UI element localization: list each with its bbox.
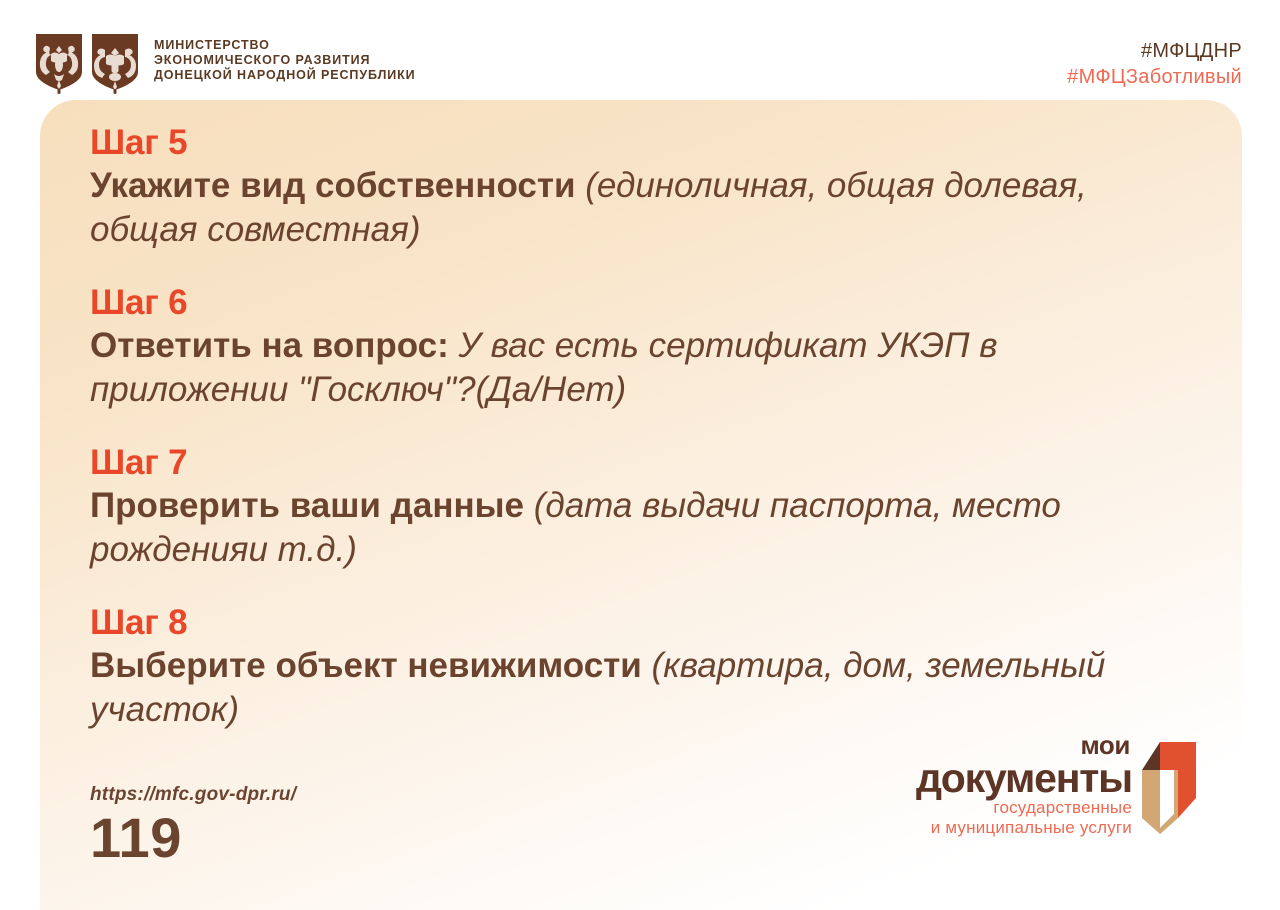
site-url[interactable]: https://mfc.gov-dpr.ru/ — [90, 784, 296, 806]
hashtag-secondary: #МФЦЗаботливый — [1067, 64, 1242, 90]
step-label: Шаг 6 — [90, 282, 1200, 324]
step-bold-text: Проверить ваши данные — [90, 486, 524, 525]
step-label: Шаг 7 — [90, 442, 1200, 484]
step-description: Укажите вид собственности (единоличная, … — [90, 164, 1195, 252]
step-item: Шаг 8 Выберите объект невижимости (кварт… — [90, 602, 1200, 732]
mfc-logo-dokumenty: документы — [912, 758, 1132, 798]
mfc-logo-subline-2: и муниципальные услуги — [912, 818, 1132, 838]
step-description: Проверить ваши данные (дата выдачи паспо… — [90, 484, 1195, 572]
hashtag-group: #МФЦДНР #МФЦЗаботливый — [1067, 38, 1242, 90]
step-bold-text: Выберите объект невижимости — [90, 646, 642, 685]
russia-coat-of-arms-icon — [34, 32, 84, 94]
content-card: Шаг 5 Укажите вид собственности (единоли… — [40, 100, 1242, 910]
mfc-logo: мои документы государственные и муниципа… — [920, 754, 1220, 882]
mfc-logo-subline-1: государственные — [912, 798, 1132, 818]
steps-list: Шаг 5 Укажите вид собственности (единоли… — [90, 122, 1200, 762]
page-number: 119 — [90, 806, 182, 870]
step-description: Ответить на вопрос: У вас есть сертифика… — [90, 324, 1195, 412]
step-bold-text: Ответить на вопрос: — [90, 326, 449, 365]
ministry-title: МИНИСТЕРСТВО ЭКОНОМИЧЕСКОГО РАЗВИТИЯ ДОН… — [154, 38, 416, 83]
step-description: Выберите объект невижимости (квартира, д… — [90, 644, 1195, 732]
step-item: Шаг 6 Ответить на вопрос: У вас есть сер… — [90, 282, 1200, 412]
step-label: Шаг 5 — [90, 122, 1200, 164]
mfc-flag-icon — [1122, 740, 1198, 836]
mfc-wordmark: мои документы государственные и муниципа… — [912, 732, 1132, 838]
dpr-coat-of-arms-icon — [90, 32, 140, 94]
step-bold-text: Укажите вид собственности — [90, 166, 576, 205]
page-header: МИНИСТЕРСТВО ЭКОНОМИЧЕСКОГО РАЗВИТИЯ ДОН… — [0, 0, 1280, 100]
step-item: Шаг 5 Укажите вид собственности (единоли… — [90, 122, 1200, 252]
step-label: Шаг 8 — [90, 602, 1200, 644]
ministry-branding: МИНИСТЕРСТВО ЭКОНОМИЧЕСКОГО РАЗВИТИЯ ДОН… — [34, 32, 416, 94]
step-item: Шаг 7 Проверить ваши данные (дата выдачи… — [90, 442, 1200, 572]
hashtag-primary: #МФЦДНР — [1067, 38, 1242, 64]
